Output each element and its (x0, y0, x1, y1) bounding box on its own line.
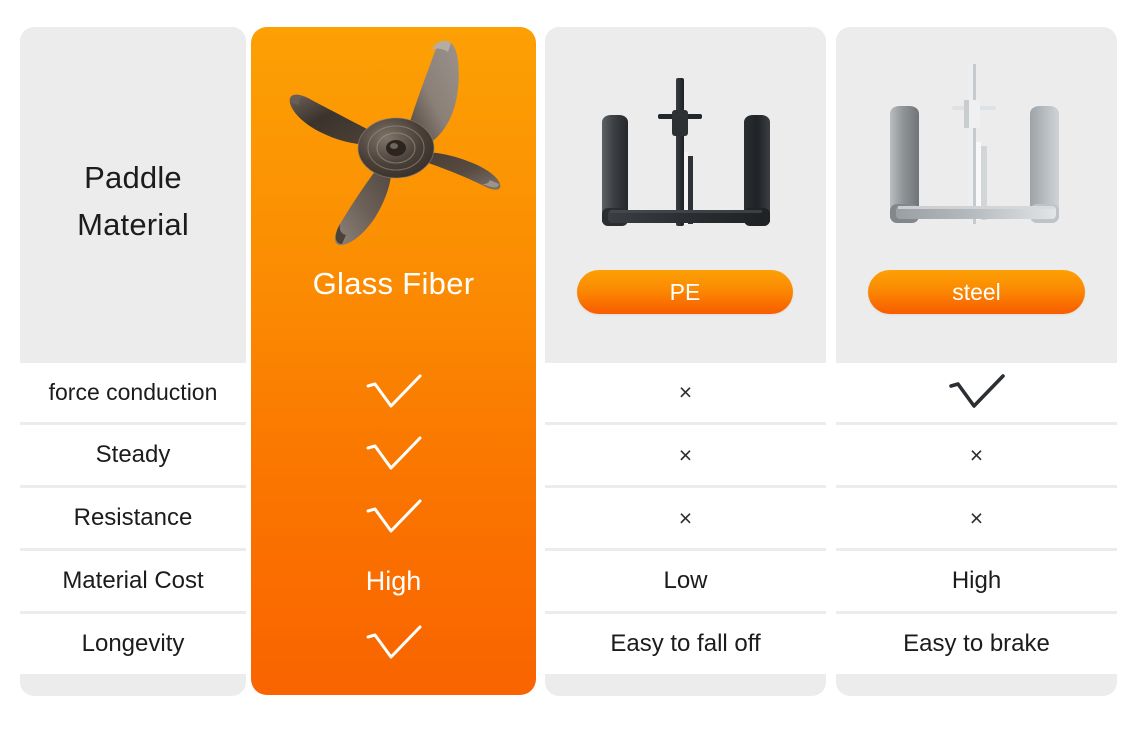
cell-steel-steady: × (836, 425, 1117, 485)
cell-steel-material-cost: High (836, 551, 1117, 611)
cell-glass-fiber-longevity (251, 614, 536, 674)
check-icon (364, 435, 424, 475)
cross-icon: × (679, 444, 692, 467)
cell-glass-fiber-material-cost: High (251, 551, 536, 611)
page-title-line-2: Material (20, 202, 246, 249)
check-icon (947, 373, 1007, 413)
cell-pe-material-cost: Low (545, 551, 826, 611)
paddle-material-comparison-table: Paddle Material (0, 0, 1137, 743)
cell-steel-force-conduction (836, 363, 1117, 422)
propeller-impeller-icon (268, 32, 523, 258)
glass-fiber-name-label: Glass Fiber (251, 266, 536, 302)
row-label-material-cost: Material Cost (20, 551, 246, 611)
paddle-agitator-dark-icon (588, 70, 783, 245)
check-icon (364, 624, 424, 664)
cross-icon: × (970, 507, 983, 530)
cell-glass-fiber-steady (251, 425, 536, 485)
cell-pe-resistance: × (545, 488, 826, 548)
page-title-line-1: Paddle (20, 155, 246, 202)
row-label-steady: Steady (20, 425, 246, 485)
pe-name-pill[interactable]: PE (577, 270, 793, 314)
check-icon (364, 498, 424, 538)
pe-name-label: PE (670, 279, 701, 306)
cell-steel-resistance: × (836, 488, 1117, 548)
cross-icon: × (679, 381, 692, 404)
cell-pe-longevity: Easy to fall off (545, 614, 826, 674)
row-label-longevity: Longevity (20, 614, 246, 674)
steel-name-label: steel (952, 279, 1001, 306)
cell-glass-fiber-force-conduction (251, 363, 536, 422)
cross-icon: × (970, 444, 983, 467)
cell-pe-steady: × (545, 425, 826, 485)
cell-glass-fiber-resistance (251, 488, 536, 548)
paddle-agitator-steel-icon (878, 58, 1074, 243)
cell-steel-longevity: Easy to brake (836, 614, 1117, 674)
steel-name-pill[interactable]: steel (868, 270, 1085, 314)
page-title: Paddle Material (20, 155, 246, 248)
check-icon (364, 373, 424, 413)
cross-icon: × (679, 507, 692, 530)
cell-pe-force-conduction: × (545, 363, 826, 422)
row-label-force-conduction: force conduction (20, 363, 246, 422)
row-label-resistance: Resistance (20, 488, 246, 548)
